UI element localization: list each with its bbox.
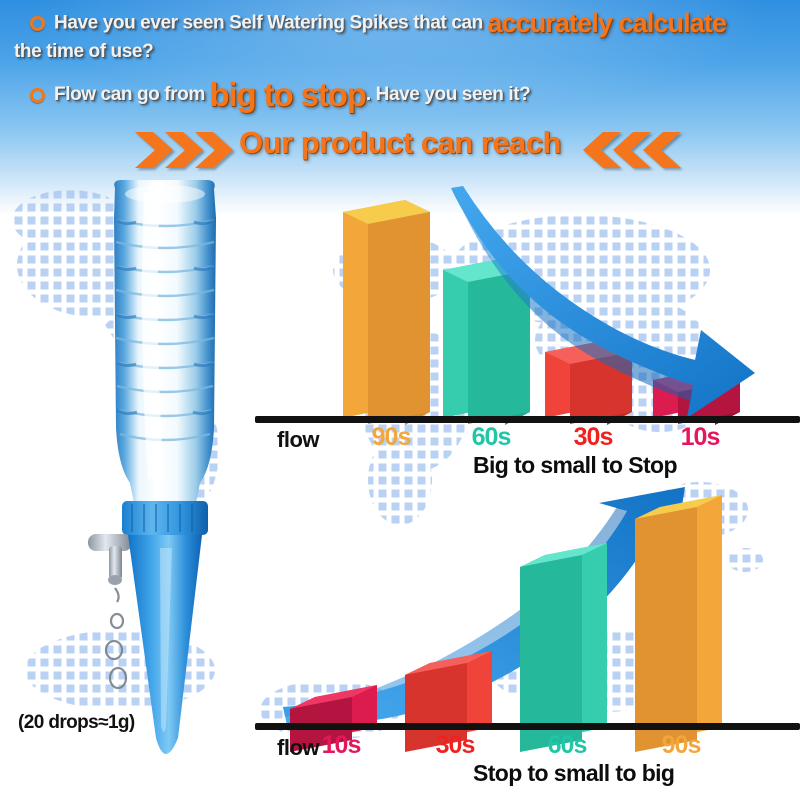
- header-text-block: Have you ever seen Self Watering Spikes …: [0, 0, 800, 118]
- tick-top-3: 10s: [660, 423, 740, 452]
- bar-90s: [343, 200, 430, 425]
- chart-big-to-small-to-stop: flow 90s 60s 30s 10s Big to small to Sto…: [255, 180, 800, 470]
- water-drops: [106, 588, 126, 688]
- infographic-page: Have you ever seen Self Watering Spikes …: [0, 0, 800, 800]
- header-line-1-plain: Have you ever seen Self Watering Spikes …: [54, 13, 483, 34]
- tick-bottom-3: 90s: [641, 731, 721, 760]
- flow-control-valve: [88, 534, 132, 585]
- header-line-2: the time of use?: [14, 41, 153, 63]
- drops-note: (20 drops≈1g): [18, 712, 135, 734]
- axis-label-flow-top: flow: [277, 427, 319, 453]
- tick-bottom-2: 60s: [527, 731, 607, 760]
- tick-top-0: 90s: [351, 423, 431, 452]
- tick-top-2: 30s: [553, 423, 633, 452]
- caption-big-to-small-to-stop: Big to small to Stop: [473, 452, 677, 479]
- header-line-3: Flow can go from big to stop. Have you s…: [30, 76, 530, 114]
- bar-60s: [520, 543, 607, 752]
- caption-stop-to-small-to-big: Stop to small to big: [473, 760, 674, 787]
- tick-bottom-0: 10s: [301, 731, 381, 760]
- header-line-3-plain-a: Flow can go from: [54, 84, 205, 105]
- header-line-3-highlight: big to stop: [209, 76, 366, 113]
- tick-bottom-1: 30s: [415, 731, 495, 760]
- header-line-2-plain: the time of use?: [14, 41, 153, 62]
- banner: Our product can reach: [0, 125, 800, 180]
- header-line-3-plain-b: . Have you seen it?: [366, 84, 531, 105]
- chevrons-left-icon: [583, 127, 703, 173]
- circle-outline-icon: [30, 88, 45, 103]
- bar-10s: [255, 485, 377, 752]
- tick-top-1: 60s: [451, 423, 531, 452]
- header-line-1-highlight: accurately calculate: [487, 8, 726, 38]
- circle-outline-icon: [30, 16, 45, 31]
- bar-90s: [635, 495, 722, 752]
- chart-stop-to-small-to-big: flow 10s 30s 60s 90s Stop to small to bi…: [255, 485, 800, 790]
- header-line-1: Have you ever seen Self Watering Spikes …: [30, 8, 726, 39]
